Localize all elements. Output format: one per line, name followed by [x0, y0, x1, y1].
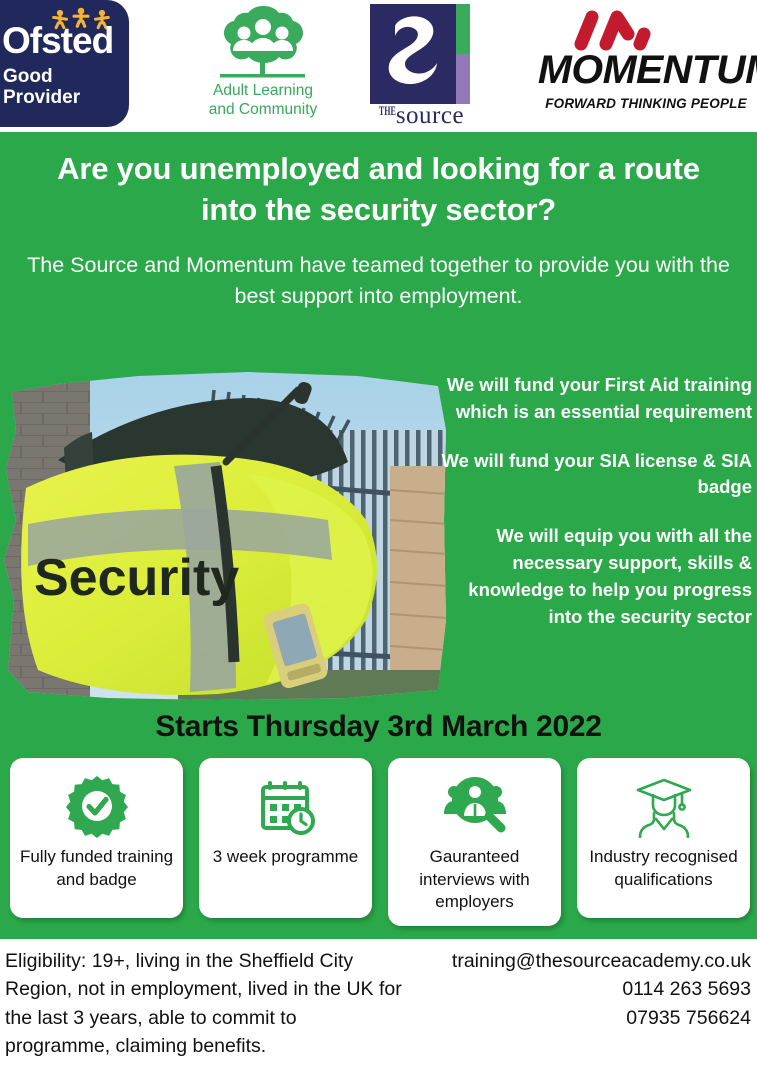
- feature-card-qualifications[interactable]: Industry recognised qualifications: [577, 758, 750, 918]
- partner-logo-bar: Ofsted Good Provider: [0, 0, 757, 132]
- main-green-panel: Are you unemployed and looking for a rou…: [0, 132, 757, 939]
- ofsted-logo: Ofsted Good Provider: [0, 0, 129, 127]
- feature-card-label: Industry recognised qualifications: [585, 846, 742, 891]
- feature-card-guaranteed-interviews[interactable]: Gauranteed interviews with employers: [388, 758, 561, 926]
- tree-people-icon: [192, 4, 334, 84]
- benefit-item: We will fund your First Aid training whi…: [440, 372, 752, 426]
- calendar-clock-icon: [254, 770, 318, 842]
- badge-check-icon: [65, 770, 129, 842]
- feature-card-three-week[interactable]: 3 week programme: [199, 758, 372, 918]
- ofsted-wordmark: Ofsted: [2, 22, 113, 59]
- vest-security-text: Security: [34, 549, 239, 607]
- page-title: Are you unemployed and looking for a rou…: [40, 148, 717, 230]
- footer-bar: Eligibility: 19+, living in the Sheffiel…: [0, 939, 757, 1071]
- momentum-tagline: FORWARD THINKING PEOPLE: [540, 96, 752, 111]
- contact-phone-landline[interactable]: 0114 263 5693: [401, 975, 751, 1003]
- contact-phone-mobile[interactable]: 07935 756624: [401, 1004, 751, 1032]
- contact-email[interactable]: training@thesourceacademy.co.uk: [401, 947, 751, 975]
- momentum-logo: MOMENTUM FORWARD THINKING PEOPLE: [540, 8, 752, 126]
- adult-learning-line2: and Community: [192, 101, 334, 120]
- poster-root: Ofsted Good Provider: [0, 0, 757, 1071]
- source-s-mark-icon: [370, 4, 470, 104]
- the-source-logo: THEsource: [370, 4, 473, 130]
- adult-learning-logo: Adult Learning and Community: [192, 4, 334, 128]
- feature-card-fully-funded[interactable]: Fully funded training and badge: [10, 758, 183, 918]
- benefit-item: We will equip you with all the necessary…: [440, 523, 752, 630]
- start-date-banner: Starts Thursday 3rd March 2022: [0, 710, 757, 744]
- eligibility-text: Eligibility: 19+, living in the Sheffiel…: [5, 947, 405, 1060]
- security-guard-photo: Security: [0, 370, 448, 702]
- source-word-main: source: [396, 102, 464, 129]
- ofsted-grade: Good Provider: [3, 66, 80, 109]
- interview-search-icon: [442, 770, 508, 842]
- feature-card-label: Fully funded training and badge: [18, 846, 175, 891]
- graduate-icon: [632, 770, 696, 842]
- page-subtitle: The Source and Momentum have teamed toge…: [24, 250, 733, 311]
- ofsted-grade-line1: Good: [3, 66, 80, 87]
- contact-details: training@thesourceacademy.co.uk 0114 263…: [401, 947, 751, 1032]
- source-wordmark: THEsource: [370, 103, 473, 128]
- ofsted-grade-line2: Provider: [3, 87, 80, 108]
- security-photo-illustration: Security: [0, 370, 448, 702]
- feature-card-row: Fully funded training and badge: [10, 758, 750, 926]
- feature-card-label: 3 week programme: [213, 846, 359, 869]
- source-the-prefix: THE: [379, 106, 396, 119]
- momentum-m-mark-icon: [572, 8, 654, 52]
- momentum-wordmark: MOMENTUM: [538, 50, 754, 90]
- benefit-item: We will fund your SIA license & SIA badg…: [440, 448, 752, 502]
- adult-learning-line1: Adult Learning: [192, 82, 334, 101]
- feature-card-label: Gauranteed interviews with employers: [396, 846, 553, 914]
- adult-learning-label: Adult Learning and Community: [192, 82, 334, 120]
- benefits-list: We will fund your First Aid training whi…: [440, 372, 752, 631]
